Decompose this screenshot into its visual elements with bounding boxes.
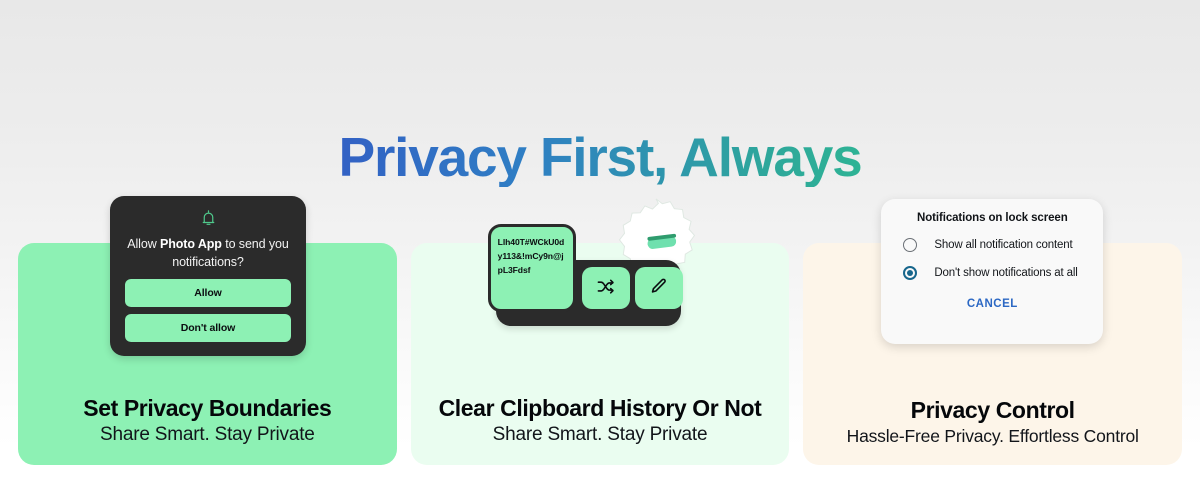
lock-panel-title: Notifications on lock screen: [891, 212, 1093, 224]
lock-screen-notifications-panel: Notifications on lock screen Show all no…: [881, 199, 1103, 344]
notification-dialog-message: Allow Photo App to send you notification…: [120, 236, 296, 272]
bell-icon: [120, 208, 296, 230]
clipboard-widget: Llh40T#WCkU0dy113&!mCy9n@jpL3Fdsf: [496, 260, 681, 326]
card-3-subtitle: Hassle-Free Privacy. Effortless Control: [803, 426, 1182, 447]
clipboard-content-text: Llh40T#WCkU0dy113&!mCy9n@jpL3Fdsf: [488, 224, 576, 312]
page-title: Privacy First, Always: [0, 129, 1200, 187]
radio-selected-icon[interactable]: [903, 266, 917, 280]
radio-unselected-icon[interactable]: [903, 238, 917, 252]
pencil-icon: [649, 277, 668, 299]
privacy-feature-banner: Privacy First, Always Allow Photo App to…: [0, 0, 1200, 486]
card-clear-clipboard-history: Llh40T#WCkU0dy113&!mCy9n@jpL3Fdsf: [411, 243, 790, 465]
radio-option-show-all-label: Show all notification content: [934, 239, 1072, 251]
feature-cards-row: Allow Photo App to send you notification…: [18, 243, 1182, 465]
card-3-title: Privacy Control: [803, 397, 1182, 423]
card-2-text: Clear Clipboard History Or Not Share Sma…: [411, 395, 790, 447]
shuffle-icon-button[interactable]: [582, 267, 630, 309]
radio-option-show-all[interactable]: Show all notification content: [891, 238, 1093, 252]
card-1-subtitle: Share Smart. Stay Private: [18, 424, 397, 447]
dialog-message-prefix: Allow: [127, 237, 160, 251]
card-set-privacy-boundaries: Allow Photo App to send you notification…: [18, 243, 397, 465]
radio-option-show-none[interactable]: Don't show notifications at all: [891, 266, 1093, 280]
notification-permission-dialog: Allow Photo App to send you notification…: [110, 196, 306, 356]
card-privacy-control: Notifications on lock screen Show all no…: [803, 243, 1182, 465]
dont-allow-button[interactable]: Don't allow: [125, 314, 291, 342]
card-2-subtitle: Share Smart. Stay Private: [411, 424, 790, 447]
shuffle-icon: [596, 277, 615, 299]
allow-button[interactable]: Allow: [125, 279, 291, 307]
cancel-button[interactable]: CANCEL: [891, 297, 1093, 311]
card-1-text: Set Privacy Boundaries Share Smart. Stay…: [18, 395, 397, 447]
card-2-title: Clear Clipboard History Or Not: [411, 395, 790, 421]
card-3-text: Privacy Control Hassle-Free Privacy. Eff…: [803, 397, 1182, 447]
radio-option-show-none-label: Don't show notifications at all: [934, 267, 1077, 279]
dialog-app-name: Photo App: [160, 237, 222, 251]
edit-icon-button[interactable]: [635, 267, 683, 309]
card-1-title: Set Privacy Boundaries: [18, 395, 397, 421]
